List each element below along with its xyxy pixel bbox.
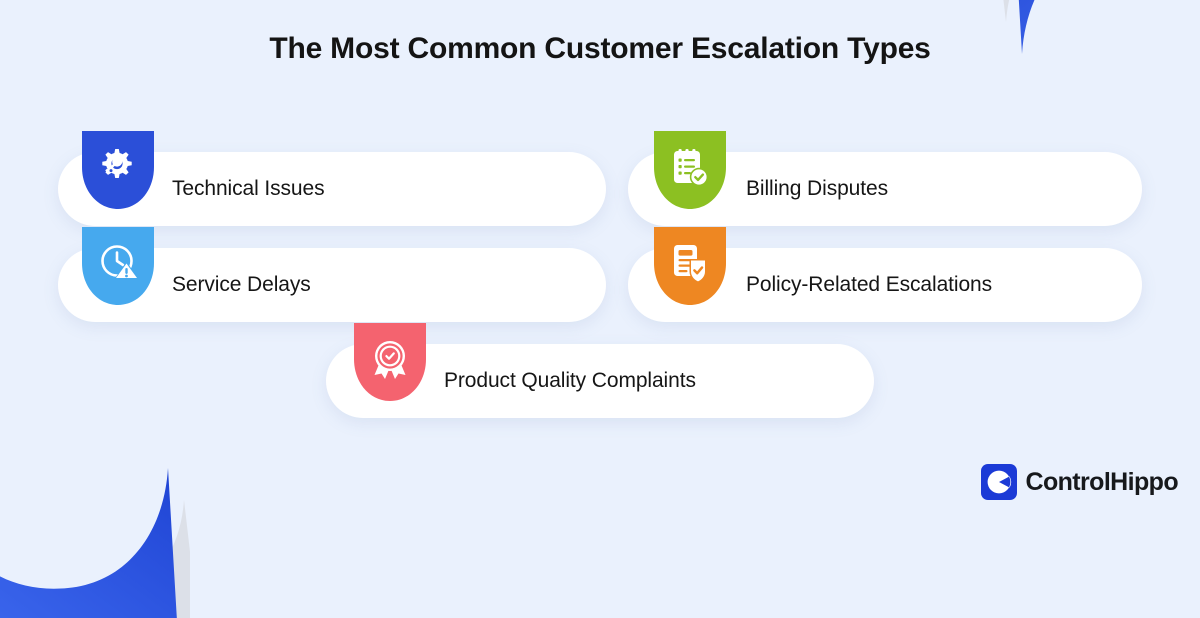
decorative-blob-bottom-left [0, 428, 190, 618]
card-product-quality-complaints[interactable]: Product Quality Complaints [326, 344, 874, 418]
card-label: Service Delays [172, 273, 311, 297]
controlhippo-logo-text: ControlHippo [1026, 468, 1178, 497]
card-row-2: Service Delays Policy-Related Escalation… [0, 248, 1200, 322]
card-label: Billing Disputes [746, 177, 888, 201]
controlhippo-logo-mark-icon [981, 464, 1017, 500]
card-billing-disputes[interactable]: Billing Disputes [628, 152, 1142, 226]
document-shield-check-icon [654, 223, 726, 308]
card-row-1: Technical Issues [0, 152, 1200, 226]
controlhippo-logo: ControlHippo [981, 464, 1178, 500]
award-ribbon-shield-icon [354, 319, 426, 404]
clipboard-check-shield-icon [654, 127, 726, 212]
card-row-3: Product Quality Complaints [0, 344, 1200, 418]
page-title: The Most Common Customer Escalation Type… [0, 32, 1200, 66]
card-label: Product Quality Complaints [444, 369, 696, 393]
card-label: Technical Issues [172, 177, 324, 201]
card-policy-related-escalations[interactable]: Policy-Related Escalations [628, 248, 1142, 322]
clock-warning-shield-icon [82, 223, 154, 308]
escalation-type-list: Technical Issues [0, 152, 1200, 440]
gear-wrench-shield-icon [82, 127, 154, 212]
card-service-delays[interactable]: Service Delays [58, 248, 606, 322]
card-label: Policy-Related Escalations [746, 273, 992, 297]
card-technical-issues[interactable]: Technical Issues [58, 152, 606, 226]
